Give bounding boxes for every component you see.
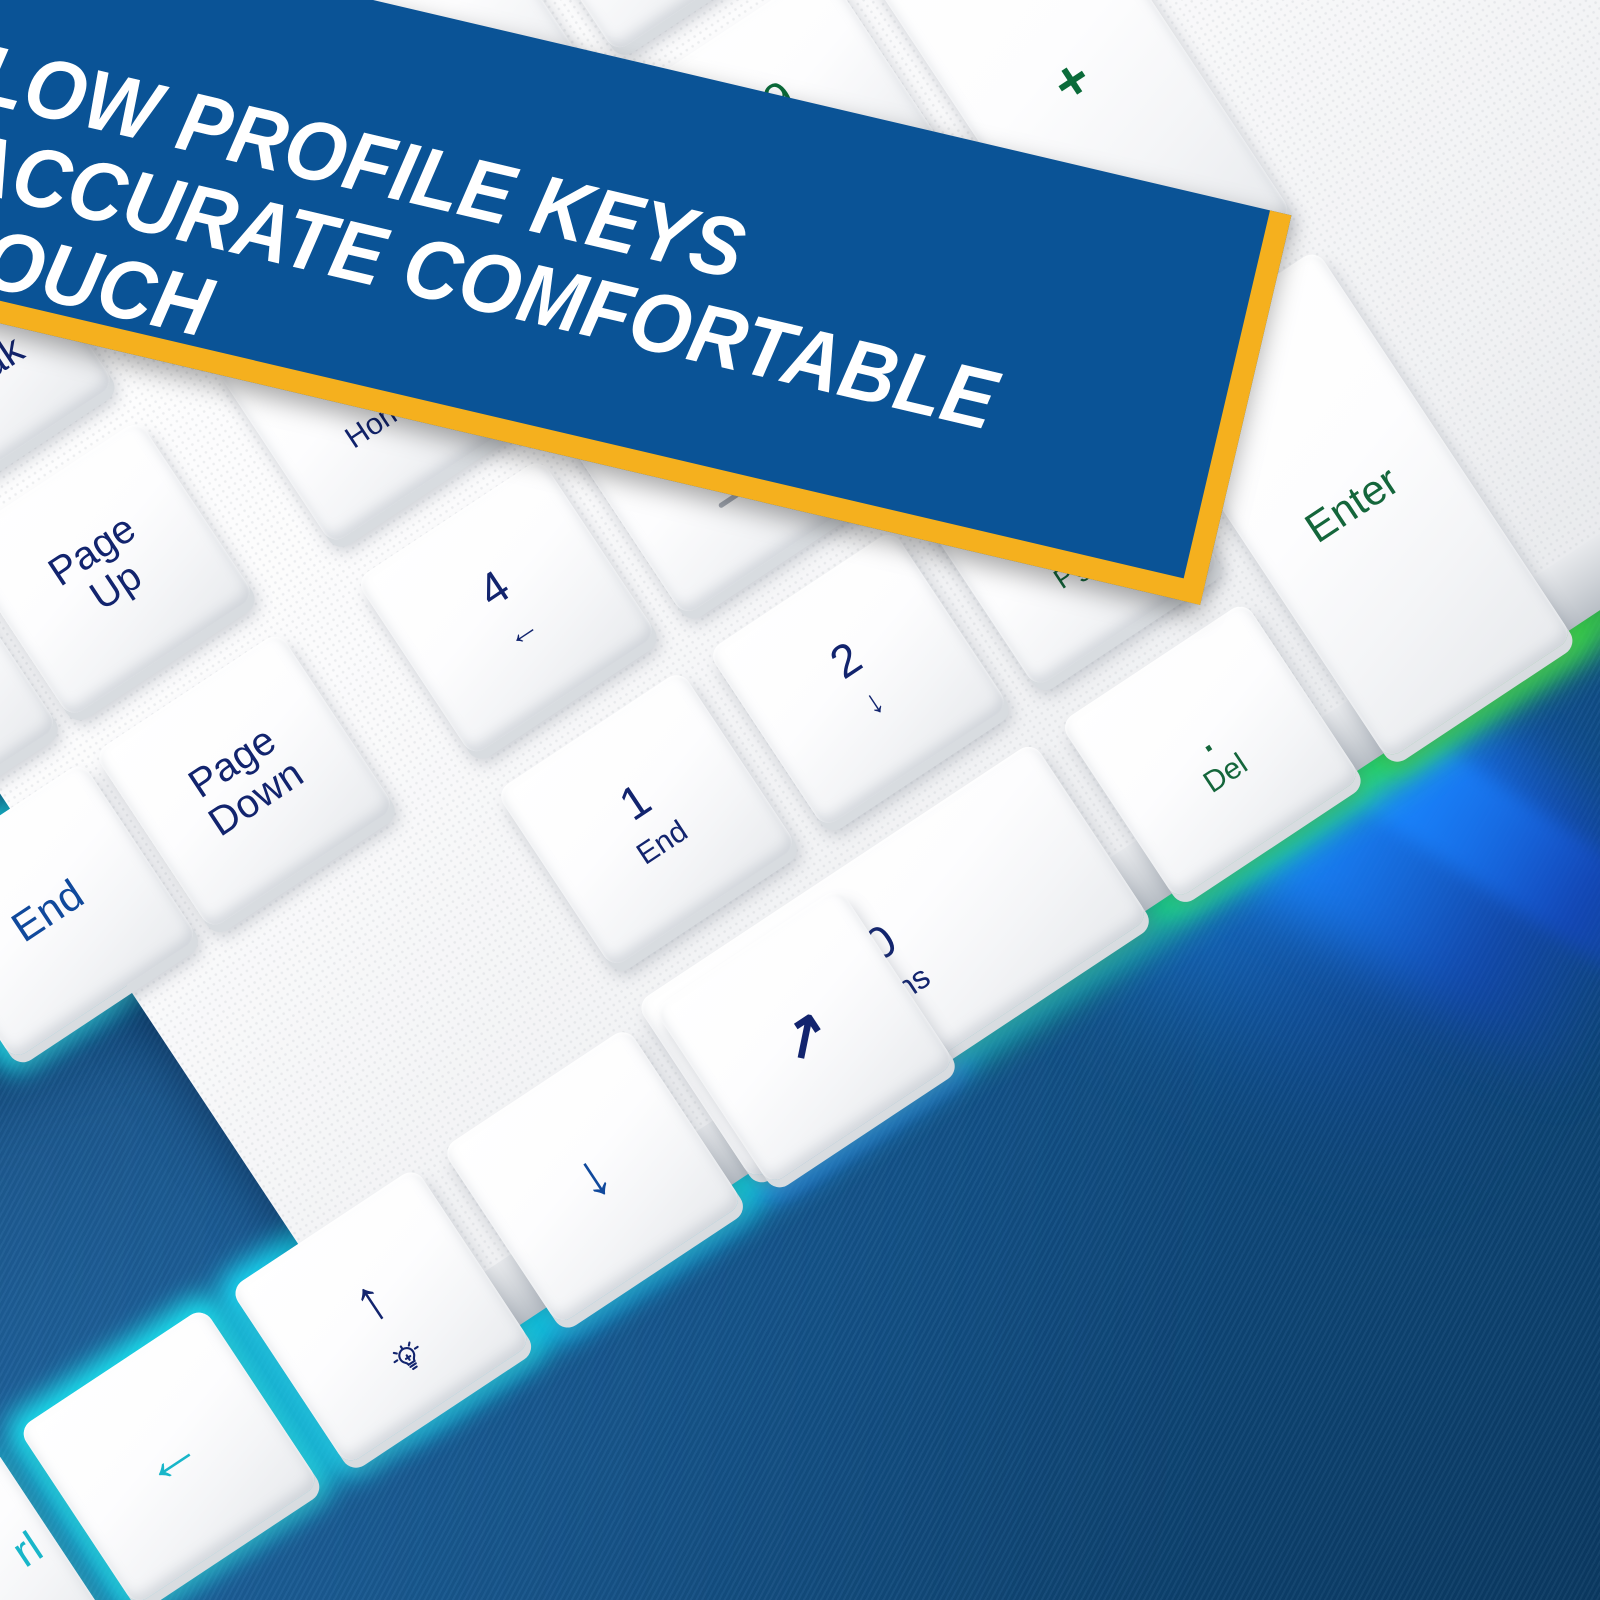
product-banner-scene: Pause Break Home Page Up End Page Down N… [0,0,1600,1600]
